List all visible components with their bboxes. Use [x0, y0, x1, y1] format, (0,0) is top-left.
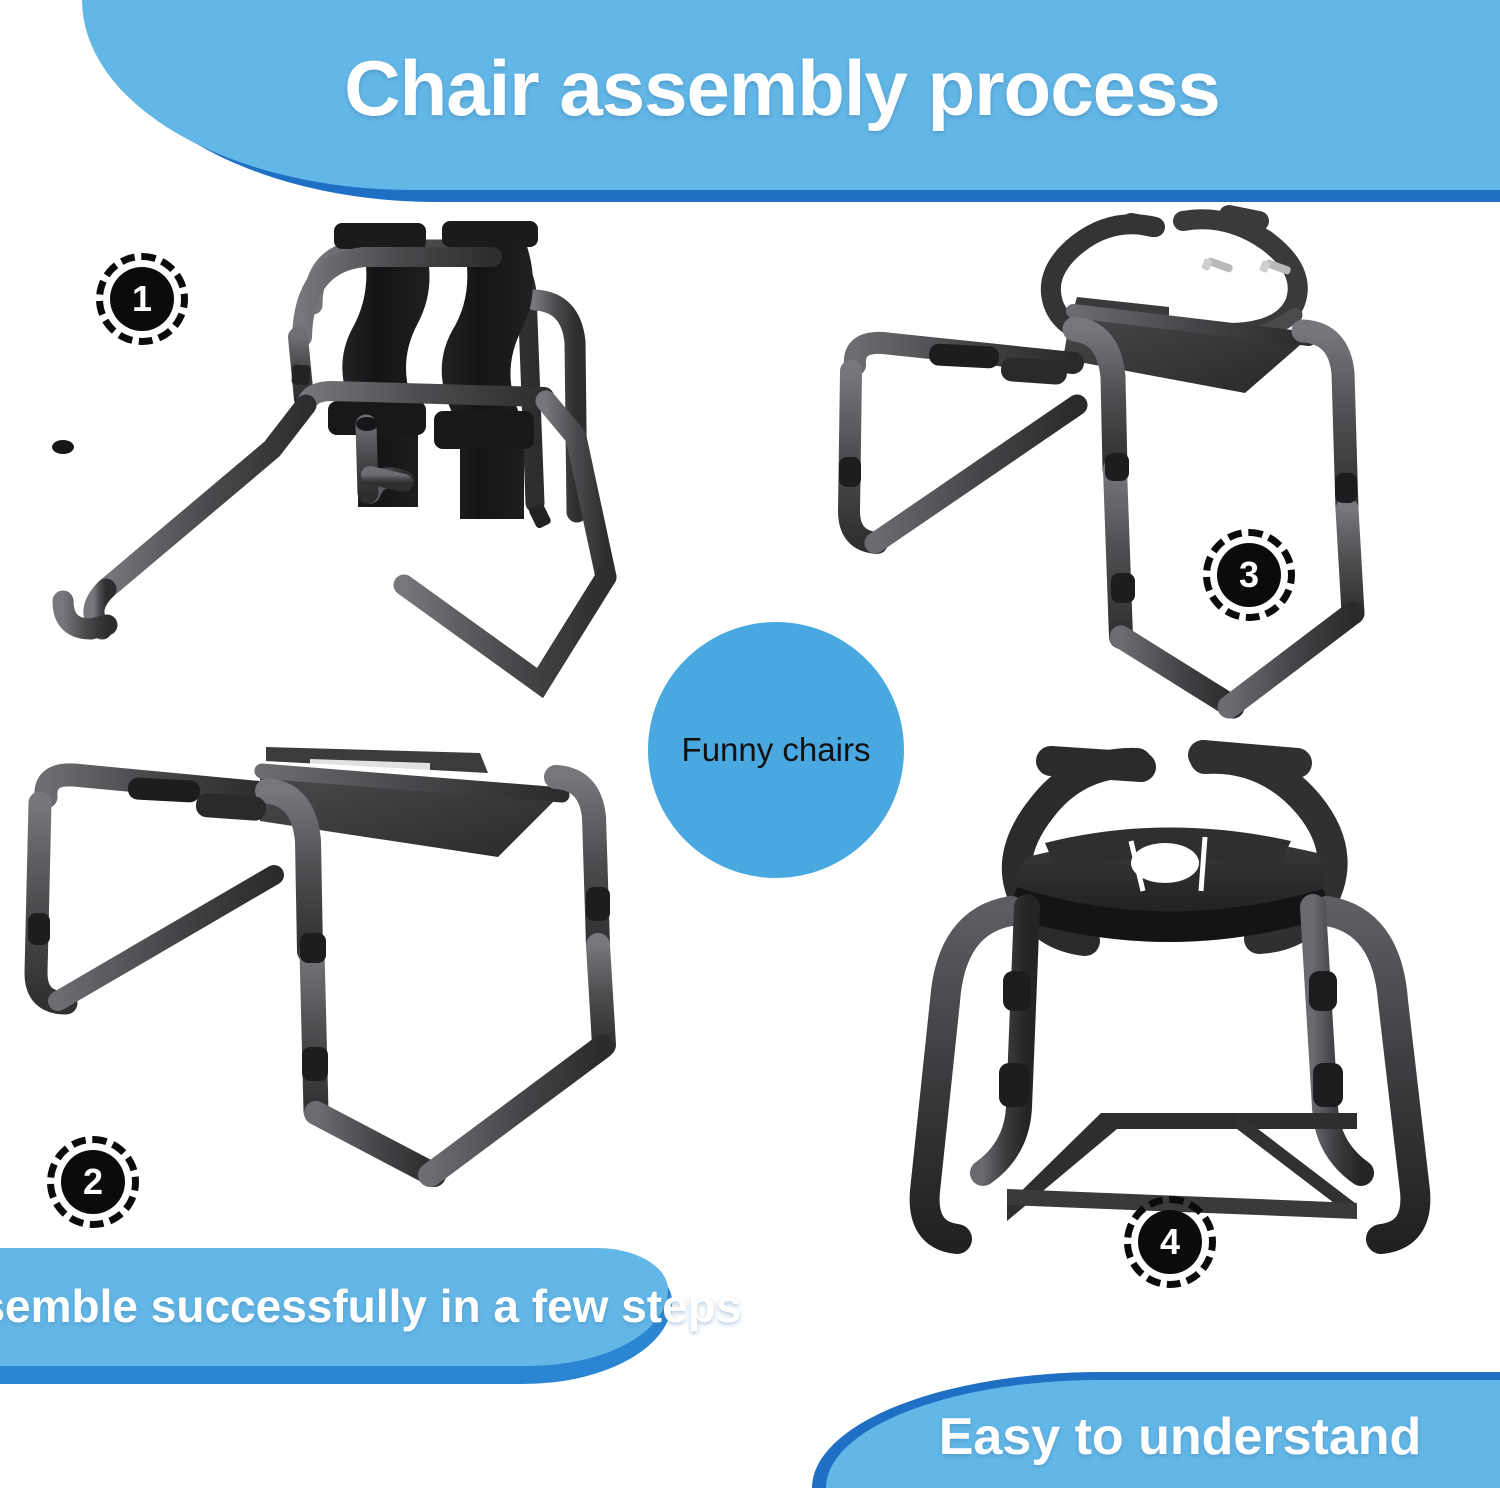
center-label-text: Funny chairs: [682, 731, 871, 769]
step-badge-disc: 4: [1138, 1210, 1202, 1274]
step-3-illustration: [825, 205, 1385, 735]
step-1-badge: 1: [96, 253, 188, 345]
step-2-badge: 2: [47, 1136, 139, 1228]
step-badge-number: 4: [1160, 1224, 1180, 1260]
step-badge-number: 3: [1239, 557, 1259, 593]
center-label-circle: Funny chairs: [648, 622, 904, 878]
footer-left-text: Assemble successfully in a few steps: [6, 1258, 656, 1354]
page-title: Chair assembly process: [82, 18, 1482, 158]
step-4-badge: 4: [1124, 1196, 1216, 1288]
footer-right-text: Easy to understand: [860, 1392, 1500, 1482]
step-badge-number: 2: [83, 1164, 103, 1200]
chair-with-handlebar-graphic: [825, 205, 1385, 735]
step-badge-disc: 3: [1217, 543, 1281, 607]
step-badge-number: 1: [132, 281, 152, 317]
screw-icon: [1201, 257, 1233, 273]
step-3-badge: 3: [1203, 529, 1295, 621]
step-badge-disc: 2: [61, 1150, 125, 1214]
poster-canvas: Chair assembly process: [0, 0, 1500, 1488]
step-badge-disc: 1: [110, 267, 174, 331]
